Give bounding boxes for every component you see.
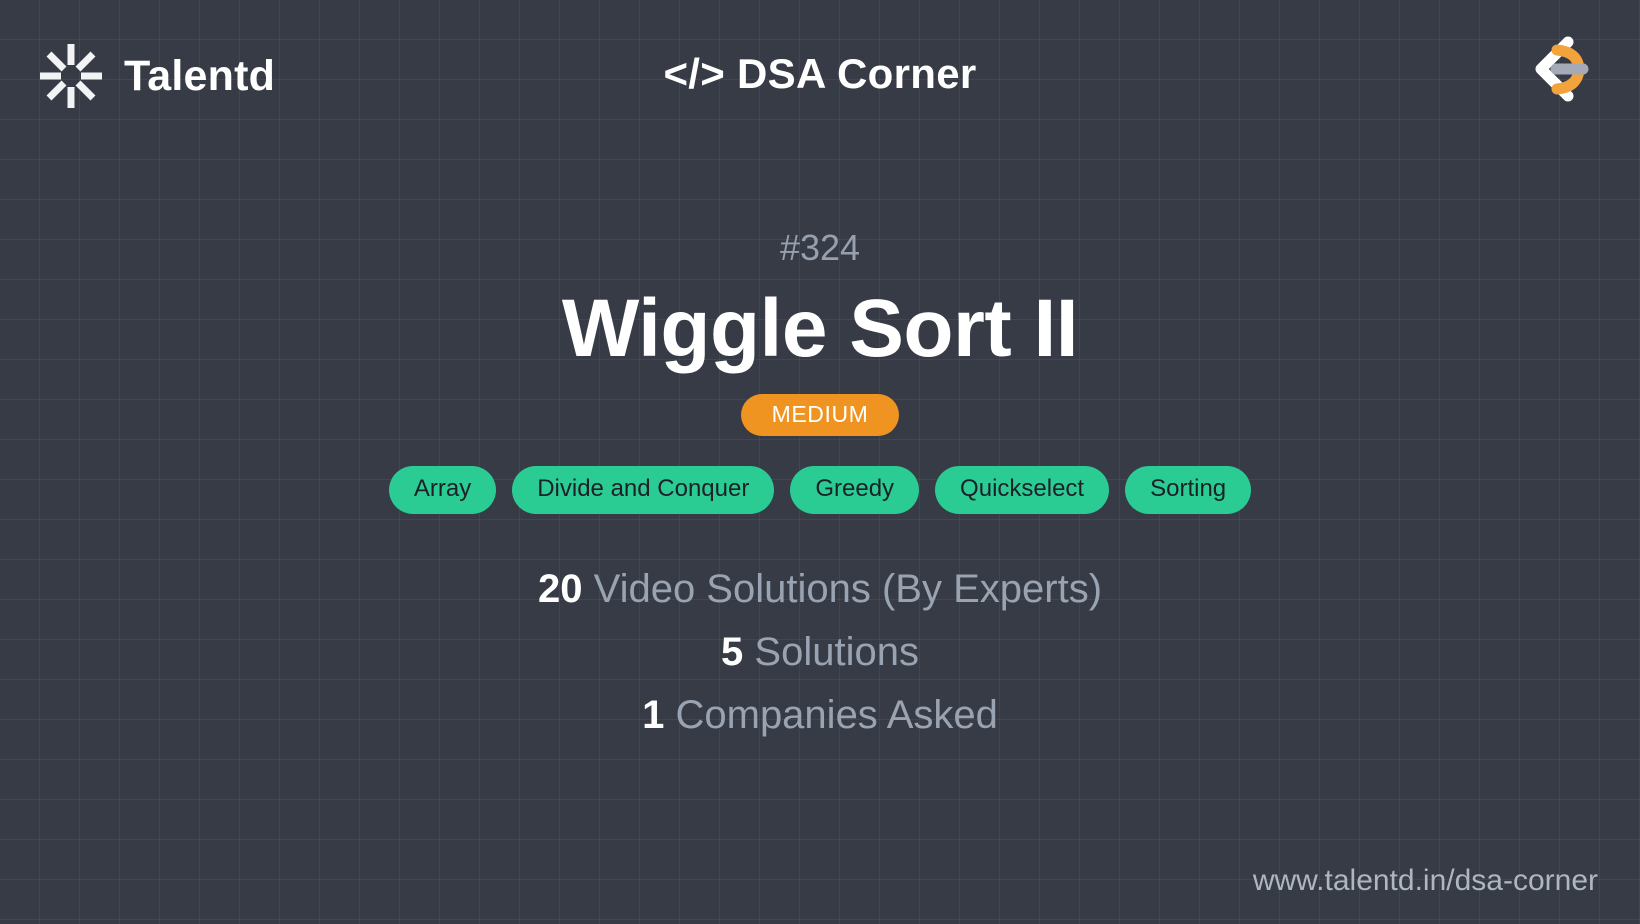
topic-tag[interactable]: Greedy	[790, 466, 919, 514]
problem-number: #324	[780, 230, 860, 266]
stat-row: 20 Video Solutions (By Experts)	[538, 566, 1102, 612]
stat-value: 1	[642, 693, 664, 737]
stat-value: 20	[538, 567, 583, 611]
page-title: </> DSA Corner	[0, 50, 1640, 98]
topic-tag[interactable]: Quickselect	[935, 466, 1109, 514]
stat-label: Video Solutions (By Experts)	[594, 567, 1102, 611]
problem-panel: #324 Wiggle Sort II MEDIUM Array Divide …	[0, 156, 1640, 816]
stat-label: Solutions	[754, 630, 919, 674]
topic-tag[interactable]: Divide and Conquer	[512, 466, 774, 514]
difficulty-badge: MEDIUM	[741, 394, 900, 436]
stat-label: Companies Asked	[675, 693, 997, 737]
topic-tag[interactable]: Sorting	[1125, 466, 1251, 514]
problem-title: Wiggle Sort II	[562, 286, 1078, 372]
footer-url[interactable]: www.talentd.in/dsa-corner	[1253, 866, 1598, 896]
stat-row: 5 Solutions	[721, 629, 919, 675]
stat-value: 5	[721, 630, 743, 674]
stat-row: 1 Companies Asked	[642, 692, 998, 738]
card-header: Talentd </> DSA Corner	[0, 0, 1640, 156]
leetcode-logo-icon	[1510, 22, 1592, 118]
dsa-corner-card: Talentd </> DSA Corner #324 Wiggle Sort …	[0, 0, 1640, 924]
topic-tag[interactable]: Array	[389, 466, 496, 514]
stats-list: 20 Video Solutions (By Experts) 5 Soluti…	[538, 566, 1102, 738]
topic-tag-list: Array Divide and Conquer Greedy Quicksel…	[389, 466, 1251, 514]
